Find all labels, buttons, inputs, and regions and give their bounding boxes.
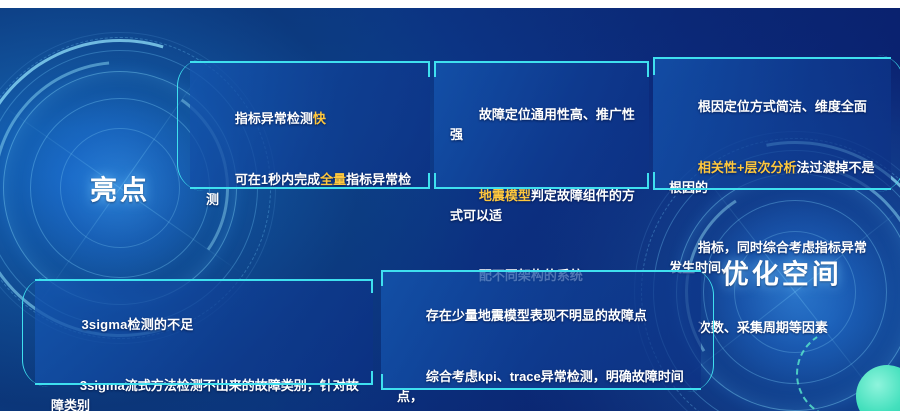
card-border-bottom [381, 388, 701, 390]
card-border-top [381, 270, 701, 272]
card-corner-bl [381, 374, 383, 390]
card-border-top [653, 57, 891, 59]
card-left-arc [22, 277, 49, 387]
card-border-top [35, 279, 373, 281]
card-text-plain: 故障定位通用性高、推广性强 [450, 107, 635, 142]
card-improve-3sigma[interactable]: 3sigma检测的不足 3sigma流式方法检测不出来的故障类别，针对故障类别 … [35, 279, 373, 385]
card-corner-tl [381, 270, 383, 286]
card-text-plain: 可在1秒内完成 [235, 172, 320, 187]
card-line: 指标异常检测快 [206, 89, 416, 149]
card-corner-bl [653, 172, 655, 190]
card-highlight-anomaly-detection[interactable]: 指标异常检测快 可在1秒内完成全量指标异常检测 [190, 61, 430, 189]
card-corner-br [647, 173, 649, 189]
card-corner-tr [371, 279, 373, 293]
card-highlight-fault-location[interactable]: 故障定位通用性高、推广性强 地震模型判定故障组件的方式可以适 配不同架构的系统 [434, 61, 649, 189]
card-corner-tr [428, 61, 430, 77]
card-text-plain: 3sigma检测的不足 [82, 317, 194, 332]
card-border-bottom [190, 187, 430, 189]
card-line: 故障定位通用性高、推广性强 [450, 85, 635, 165]
card-text-plain: 指标异常检测 [235, 111, 313, 126]
card-left-arc [177, 59, 204, 191]
card-border-top [434, 61, 649, 63]
card-text-plain: 次数、采集周期等因素 [698, 320, 828, 335]
card-line: 相关性+层次分析法过滤掉不是根因的 [669, 138, 877, 218]
card-corner-bl [434, 173, 436, 189]
card-text-plain: 判定故障组件的方式可以适 [450, 188, 635, 223]
card-text-plain: 存在少量地震模型表现不明显的故障点 [426, 308, 647, 323]
card-text-highlight: 全量 [320, 172, 346, 187]
card-border-bottom [35, 383, 373, 385]
card-improve-seismic-model[interactable]: 存在少量地震模型表现不明显的故障点 综合考虑kpi、trace异常检测，明确故障… [381, 270, 701, 390]
card-line: 根因定位方式简洁、维度全面 [669, 77, 877, 137]
card-text-highlight: 快 [313, 111, 326, 126]
card-right-arc [687, 268, 714, 392]
card-corner-br [428, 173, 430, 189]
card-line: 存在少量地震模型表现不明显的故障点 [397, 286, 687, 346]
slide-background: 亮点 优化空间 [0, 8, 900, 411]
card-line: 3sigma检测的不足 [51, 295, 359, 355]
card-corner-br [371, 371, 373, 385]
card-right-arc [877, 55, 900, 192]
card-text-plain: 综合考虑kpi、trace异常检测，明确故障时间点， [397, 369, 684, 404]
slide-canvas: 亮点 优化空间 [0, 0, 900, 416]
card-corner-tr [647, 61, 649, 77]
card-text-highlight: 地震模型 [479, 188, 531, 203]
card-line: 可在1秒内完成全量指标异常检测 [206, 150, 416, 230]
card-border-bottom [653, 188, 891, 190]
card-border-top [190, 61, 430, 63]
card-border-bottom [434, 187, 649, 189]
card-highlight-root-cause[interactable]: 根因定位方式简洁、维度全面 相关性+层次分析法过滤掉不是根因的 指标，同时综合考… [653, 57, 891, 190]
card-corner-tl [653, 57, 655, 75]
card-text-plain: 根因定位方式简洁、维度全面 [698, 99, 867, 114]
card-line: 综合考虑kpi、trace异常检测，明确故障时间点， [397, 347, 687, 411]
card-text-highlight: 相关性+层次分析 [698, 160, 797, 175]
card-corner-tl [434, 61, 436, 77]
card-line: 地震模型判定故障组件的方式可以适 [450, 166, 635, 246]
